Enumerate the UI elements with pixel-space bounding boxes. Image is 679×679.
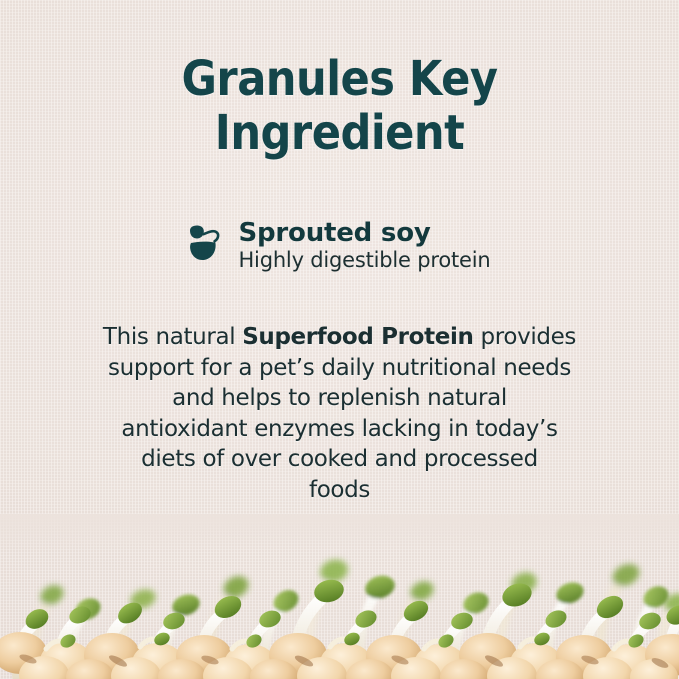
body-copy-line: diets of over cooked and processed	[88, 444, 591, 475]
ingredient-info-card: Granules Key Ingredient Sprouted soy Hig…	[0, 0, 679, 679]
body-copy-line: and helps to replenish natural	[88, 383, 591, 414]
title-line-1: Granules Key	[34, 52, 645, 106]
sprout-leaf-icon	[188, 224, 224, 266]
body-copy-line: support for a pet’s daily nutritional ne…	[88, 353, 591, 384]
soybean-sprouts-photo	[0, 529, 679, 679]
page-title: Granules Key Ingredient	[0, 52, 679, 160]
body-copy-line: antioxidant enzymes lacking in today’s	[88, 414, 591, 445]
body-copy-line: This natural Superfood Protein provides	[88, 322, 591, 353]
ingredient-name: Sprouted soy	[238, 218, 490, 248]
key-ingredient-row: Sprouted soy Highly digestible protein	[0, 218, 679, 273]
ingredient-subtitle: Highly digestible protein	[238, 248, 490, 273]
ingredient-text-group: Sprouted soy Highly digestible protein	[238, 218, 490, 273]
body-copy-line: foods	[88, 475, 591, 506]
body-copy-emphasis: Superfood Protein	[242, 324, 473, 350]
title-line-2: Ingredient	[34, 106, 645, 160]
body-copy: This natural Superfood Protein providess…	[88, 322, 591, 505]
